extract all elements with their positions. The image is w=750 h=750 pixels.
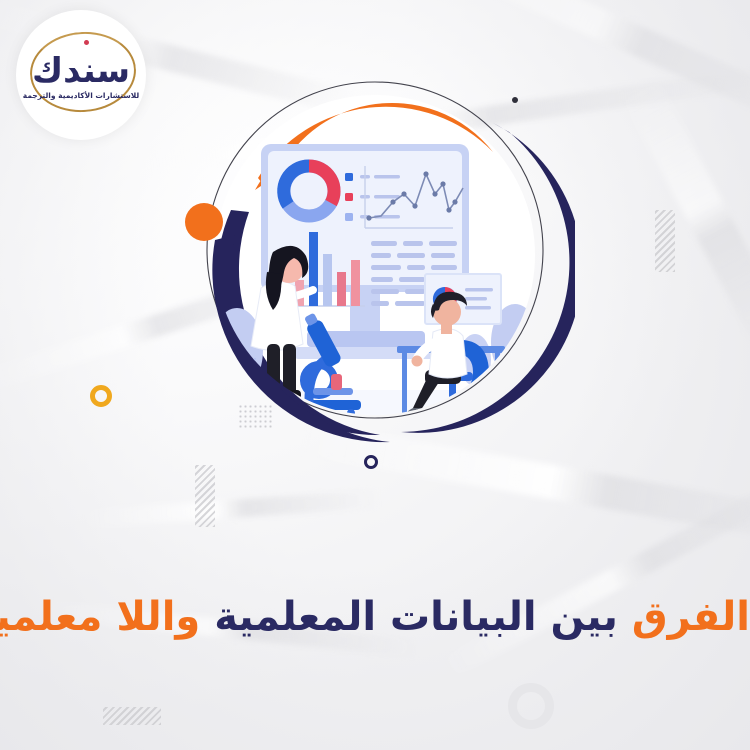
brand-logo-badge[interactable]: سندك للاستشارات الأكاديمية والترجمة [16,10,146,140]
stripe-decoration-left [195,465,215,527]
gray-ring-decoration [508,683,554,729]
logo-tagline: للاستشارات الأكاديمية والترجمة [23,91,139,100]
illustration-data-analysis [175,60,575,460]
logo-accent-dot-icon [84,40,89,45]
headline-tail: واللا معلمية [0,594,214,640]
headline-lead: الفرق [632,594,750,640]
logo-wordmark: سندك [32,54,130,88]
stripe-decoration-right [655,210,675,272]
page-title: الفرق بين البيانات المعلمية واللا معلمية [0,592,750,642]
gold-ring-decoration [90,385,112,407]
poster-canvas: سندك للاستشارات الأكاديمية والترجمة الفر… [0,0,750,750]
headline-middle: بين البيانات المعلمية [214,594,632,640]
stripe-decoration-bottom-left [103,707,161,725]
